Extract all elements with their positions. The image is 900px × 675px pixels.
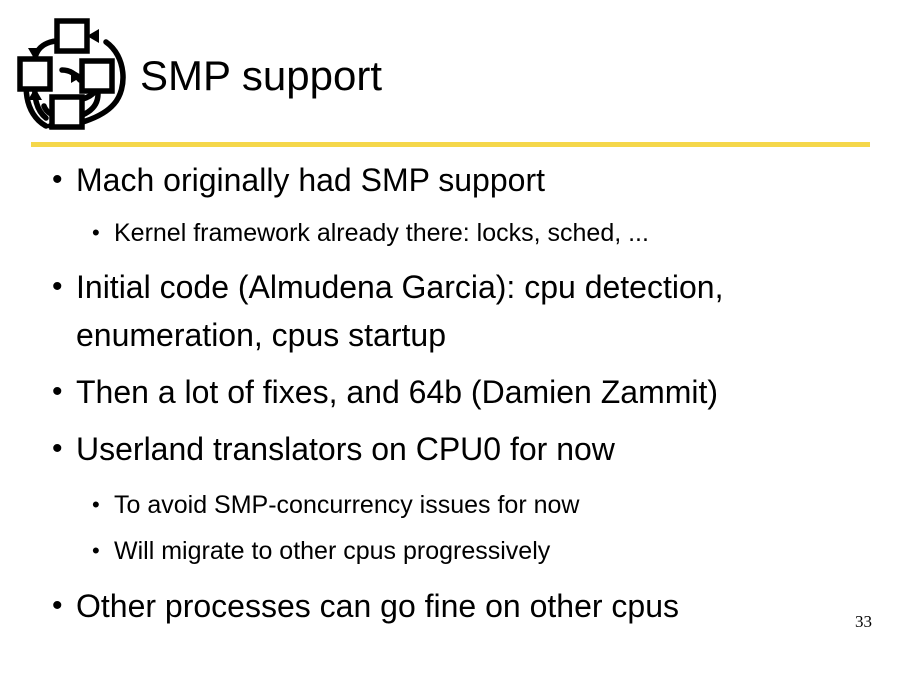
bullet-item: • Other processes can go fine on other c… — [0, 582, 900, 630]
title-divider — [31, 142, 870, 147]
bullet-text: Userland translators on CPU0 for now — [76, 425, 836, 473]
bullet-text: Will migrate to other cpus progressively — [114, 530, 834, 572]
bullet-dot-icon: • — [52, 425, 76, 473]
bullet-dot-icon: • — [52, 156, 76, 204]
bullet-item: • To avoid SMP-concurrency issues for no… — [0, 484, 900, 526]
bullet-text: Initial code (Almudena Garcia): cpu dete… — [76, 263, 836, 359]
bullet-dot-icon: • — [92, 212, 114, 254]
spacer — [0, 359, 900, 368]
slide-header: SMP support — [0, 0, 900, 145]
bullet-dot-icon: • — [52, 263, 76, 311]
bullet-dot-icon: • — [92, 530, 114, 572]
bullet-text: Other processes can go fine on other cpu… — [76, 582, 836, 630]
bullet-text: Then a lot of fixes, and 64b (Damien Zam… — [76, 368, 836, 416]
bullet-item: • Will migrate to other cpus progressive… — [0, 530, 900, 572]
bullet-text: Kernel framework already there: locks, s… — [114, 212, 834, 254]
spacer — [0, 473, 900, 484]
bullet-item: • Initial code (Almudena Garcia): cpu de… — [0, 263, 900, 359]
bullet-dot-icon: • — [52, 582, 76, 630]
page-title: SMP support — [140, 51, 880, 101]
spacer — [0, 254, 900, 263]
spacer — [0, 572, 900, 582]
bullet-item: • Then a lot of fixes, and 64b (Damien Z… — [0, 368, 900, 416]
bullet-dot-icon: • — [52, 368, 76, 416]
spacer — [0, 416, 900, 425]
bullet-item: • Userland translators on CPU0 for now — [0, 425, 900, 473]
slide-body: • Mach originally had SMP support • Kern… — [0, 156, 900, 630]
bullet-text: To avoid SMP-concurrency issues for now — [114, 484, 834, 526]
bullet-dot-icon: • — [92, 484, 114, 526]
bullet-item: • Kernel framework already there: locks,… — [0, 212, 900, 254]
bullet-text: Mach originally had SMP support — [76, 156, 836, 204]
slide-canvas: SMP support • Mach originally had SMP su… — [0, 0, 900, 675]
bullet-item: • Mach originally had SMP support — [0, 156, 900, 204]
page-number: 33 — [855, 612, 872, 632]
spacer — [0, 204, 900, 212]
smp-node-graph-logo-icon — [10, 14, 132, 136]
